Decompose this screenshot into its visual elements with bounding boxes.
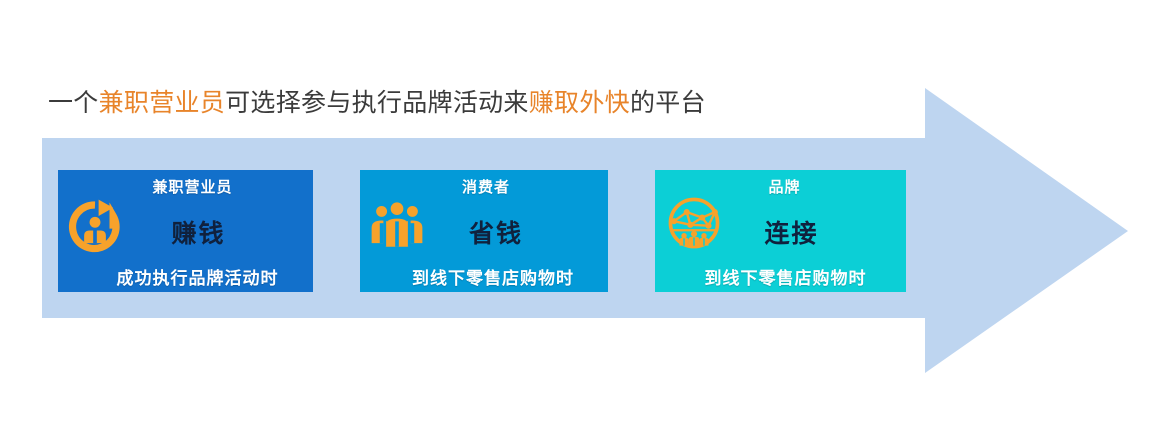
role-card-brand[interactable]: 品牌 连接 到线下零售店购物时 [655,170,906,292]
role-card-benefit: 省钱 [360,214,608,250]
role-card-condition: 到线下零售店购物时 [655,264,906,289]
role-card-consumer[interactable]: 消费者 省钱 到线下零售店购物时 [360,170,608,292]
headline-segment-highlight-2: 赚取外快 [529,90,630,117]
headline-segment-plain-2: 可选择参与执行品牌活动来 [225,90,529,117]
role-card-row: 兼职营业员 赚钱 成功执行品牌活动时 消费者 省钱 到线下零售店购物时 [58,170,1058,292]
role-card-title: 兼职营业员 [58,176,313,197]
page-title: 一个兼职营业员可选择参与执行品牌活动来赚取外快的平台 [48,88,706,120]
headline-segment-highlight-1: 兼职营业员 [99,90,226,117]
role-card-part-time-clerk[interactable]: 兼职营业员 赚钱 成功执行品牌活动时 [58,170,313,292]
role-card-benefit: 连接 [655,214,906,250]
role-card-title: 消费者 [360,176,608,197]
role-card-benefit: 赚钱 [58,214,313,250]
role-card-title: 品牌 [655,176,906,197]
role-card-condition: 成功执行品牌活动时 [58,264,313,289]
role-card-condition: 到线下零售店购物时 [360,264,608,289]
headline-segment-plain-1: 一个 [48,90,99,117]
headline-segment-plain-3: 的平台 [630,90,706,117]
